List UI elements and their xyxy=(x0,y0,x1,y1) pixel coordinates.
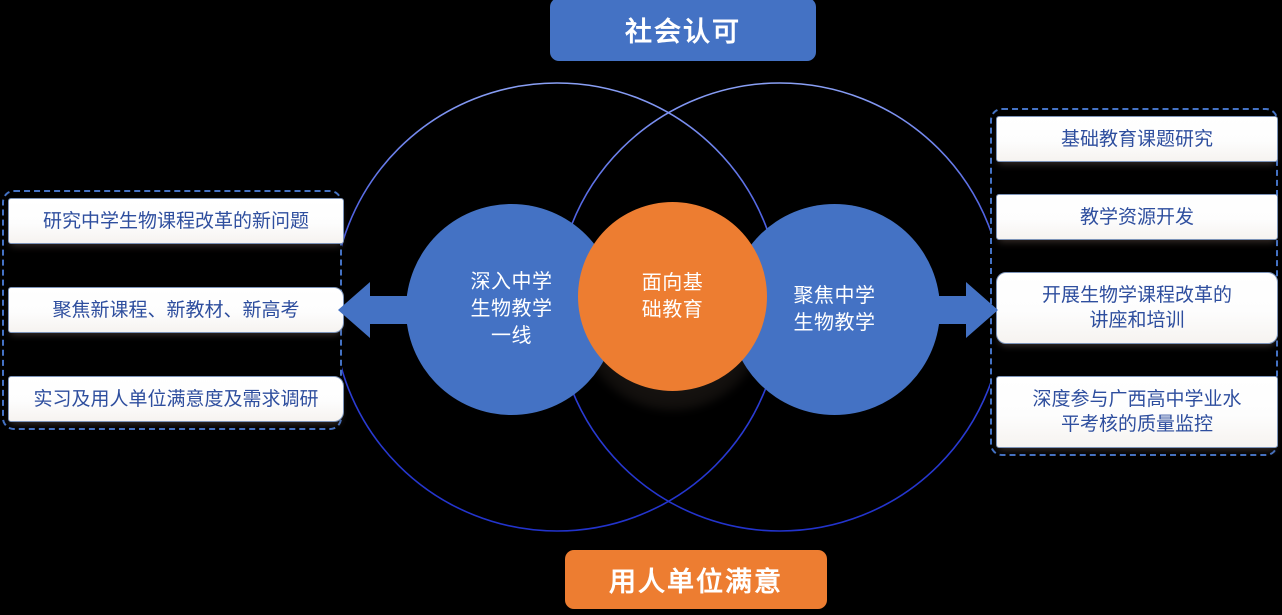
right-panel-item-3-label: 开展生物学课程改革的 讲座和培训 xyxy=(1042,283,1232,333)
right-panel-item-3-line2: 讲座和培训 xyxy=(1042,308,1232,333)
badge-employer-satisfaction[interactable]: 用人单位满意 xyxy=(565,550,827,609)
circle-right-line2: 生物教学 xyxy=(794,310,876,337)
circle-left-line2: 生物教学 xyxy=(471,296,553,323)
left-panel-item-3-label: 实习及用人单位满意度及需求调研 xyxy=(33,387,318,412)
left-panel-item-1[interactable]: 研究中学生物课程改革的新问题 xyxy=(8,198,344,244)
circle-left-line3: 一线 xyxy=(471,323,553,350)
circle-center-label: 面向基 础教育 xyxy=(630,270,716,324)
right-panel-item-4-line1: 深度参与广西高中学业水 xyxy=(1032,387,1241,412)
right-panel-item-2[interactable]: 教学资源开发 xyxy=(996,194,1278,240)
left-panel-item-3[interactable]: 实习及用人单位满意度及需求调研 xyxy=(8,376,344,422)
left-panel-item-1-label: 研究中学生物课程改革的新问题 xyxy=(43,209,309,234)
left-panel-item-2-label: 聚焦新课程、新教材、新高考 xyxy=(52,298,299,323)
right-panel: 基础教育课题研究 教学资源开发 开展生物学课程改革的 讲座和培训 深度参与广西高… xyxy=(990,108,1278,456)
circle-left-line1: 深入中学 xyxy=(471,269,553,296)
right-panel-item-4[interactable]: 深度参与广西高中学业水 平考核的质量监控 xyxy=(996,376,1278,448)
circle-center-line1: 面向基 xyxy=(642,270,704,297)
right-panel-item-1[interactable]: 基础教育课题研究 xyxy=(996,116,1278,162)
left-panel-inner: 研究中学生物课程改革的新问题 聚焦新课程、新教材、新高考 实习及用人单位满意度及… xyxy=(8,198,336,422)
right-panel-item-4-label: 深度参与广西高中学业水 平考核的质量监控 xyxy=(1032,387,1241,437)
right-panel-item-3-line1: 开展生物学课程改革的 xyxy=(1042,283,1232,308)
right-panel-item-3[interactable]: 开展生物学课程改革的 讲座和培训 xyxy=(996,272,1278,344)
right-panel-item-4-line2: 平考核的质量监控 xyxy=(1032,412,1241,437)
circle-center-line2: 础教育 xyxy=(642,297,704,324)
left-panel: 研究中学生物课程改革的新问题 聚焦新课程、新教材、新高考 实习及用人单位满意度及… xyxy=(2,190,342,430)
badge-social-recognition[interactable]: 社会认可 xyxy=(550,0,816,61)
circle-right-line1: 聚焦中学 xyxy=(794,283,876,310)
left-panel-item-2[interactable]: 聚焦新课程、新教材、新高考 xyxy=(8,287,344,333)
circle-center[interactable]: 面向基 础教育 xyxy=(578,202,767,391)
right-panel-item-1-label: 基础教育课题研究 xyxy=(1061,127,1213,152)
badge-bottom-label: 用人单位满意 xyxy=(609,560,783,599)
circle-right-label: 聚焦中学 生物教学 xyxy=(782,283,888,337)
badge-top-label: 社会认可 xyxy=(625,10,741,49)
right-panel-inner: 基础教育课题研究 教学资源开发 开展生物学课程改革的 讲座和培训 深度参与广西高… xyxy=(996,116,1272,448)
right-panel-item-2-label: 教学资源开发 xyxy=(1080,205,1194,230)
diagram-canvas: 深入中学 生物教学 一线 聚焦中学 生物教学 面向基 础教育 社会认可 用人单位… xyxy=(0,0,1282,615)
circle-left-label: 深入中学 生物教学 一线 xyxy=(459,269,565,350)
